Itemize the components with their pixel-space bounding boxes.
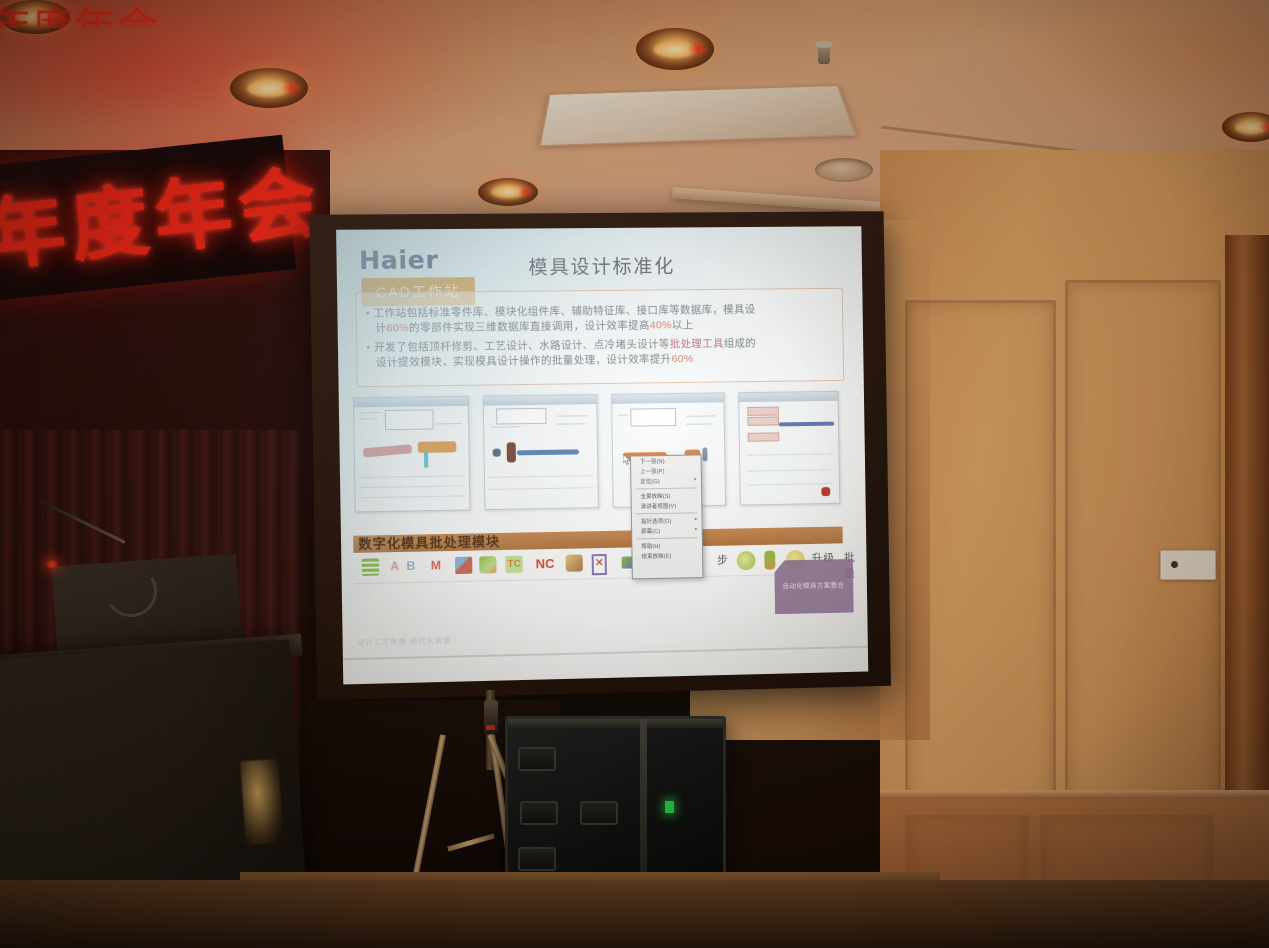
letter-b-icon[interactable]: B — [406, 558, 415, 575]
crescent-icon[interactable] — [737, 551, 756, 570]
bullet-2-pct: 60% — [671, 353, 693, 365]
tc-icon[interactable]: TC — [505, 556, 523, 573]
sprinkler-icon — [818, 44, 830, 64]
wall-panel — [905, 300, 1056, 806]
thumbnail-interface-library — [738, 391, 840, 506]
projection-screen: Haier 模具设计标准化 CAD工作站 • 工作站包括标准零件库、模块化组件库… — [336, 226, 868, 684]
menu-item-screen[interactable]: 屏幕(C)▸ — [632, 525, 702, 536]
bullet-1-pct1: 80% — [386, 322, 409, 334]
slide-footer: 设计工艺数据 现代化管理 — [357, 636, 452, 648]
projection-screen-frame: Haier 模具设计标准化 CAD工作站 • 工作站包括标准零件库、模块化组件库… — [309, 211, 891, 700]
menu-item-presenter-view[interactable]: 演讲者视图(V) — [632, 500, 702, 511]
microphone-led — [46, 560, 58, 569]
podium-emblem — [240, 759, 284, 845]
x-box-icon[interactable]: ✕ — [592, 554, 608, 575]
bullet-1-pct2: 40% — [650, 319, 672, 331]
led-sign-top-sliver: 年度年会 — [0, 0, 290, 28]
bullet-item: • 开发了包括顶杆修剪、工艺设计、水路设计、点冷堵头设计等批处理工具组成的 设计… — [366, 335, 834, 370]
green-bars-icon[interactable] — [362, 558, 380, 576]
dots-icon[interactable] — [455, 557, 472, 574]
menu-item-end-show[interactable]: 结束放映(E) — [632, 550, 702, 561]
thumbnail-standard-parts-library — [483, 394, 599, 510]
wall-panel — [1065, 280, 1221, 806]
bullet-1-l2b: 的零部件实现三维数据库直接调用，设计效率提高 — [409, 320, 650, 335]
downlight-icon — [478, 178, 538, 206]
wainscot-rail — [880, 790, 1269, 799]
wall-outlet-plate — [1160, 550, 1216, 580]
hex-badge: 自动化模具方案整合 — [774, 559, 853, 614]
conference-hall-photo: 年度年会 年度年会 Haier 模具设计标准化 CAD工作站 • 工作站包括标准… — [0, 0, 1269, 948]
bullet-1-l1b: 模块化组件库、 — [495, 305, 572, 318]
bullet-2-l2a: 设计提效模块，实现模具设计操作的批量处理，设计效率提升 — [367, 353, 672, 369]
bullet-2-l1c: 水路设计、 — [539, 339, 594, 352]
module-band-label: 数字化模具批处理模块 — [358, 533, 500, 553]
bullet-2-l1a: 开发了包括顶杆修剪、 — [374, 340, 485, 353]
bullet-1-l1d: 接口库等数据库，模具设 — [637, 303, 756, 316]
bullet-1-l2c: 以上 — [672, 319, 694, 331]
ceiling-speaker — [815, 158, 873, 182]
letter-a-icon[interactable]: A — [390, 558, 399, 575]
downlight-icon — [636, 28, 714, 70]
bullet-item: • 工作站包括标准零件库、模块化组件库、辅助特征库、接口库等数据库，模具设 计8… — [366, 302, 834, 337]
nc-icon[interactable]: NC — [536, 555, 555, 572]
bullet-1-l1c: 辅助特征库、 — [571, 305, 636, 318]
step-label[interactable]: 步 — [717, 552, 729, 568]
bullet-1-l2a: 计 — [366, 322, 386, 334]
tripod-head — [484, 700, 498, 734]
green-pin-icon[interactable] — [764, 551, 775, 570]
slide-footer-rule — [343, 646, 868, 660]
rack-power-led — [665, 801, 674, 813]
bullet-list: • 工作站包括标准零件库、模块化组件库、辅助特征库、接口库等数据库，模具设 计8… — [366, 302, 834, 375]
green-arrow-icon[interactable] — [479, 556, 496, 573]
menu-item-goto[interactable]: 定位(G)▸ — [631, 475, 701, 486]
slideshow-context-menu[interactable]: 下一张(N) 上一张(P) 定位(G)▸ 全屏放映(S) 演讲者视图(V) 指针… — [630, 454, 703, 579]
bullet-2-l1f: 组成的 — [724, 337, 756, 349]
thumbnail-row — [353, 391, 854, 531]
letter-m-icon[interactable]: M — [431, 557, 441, 574]
bullet-2-l1d: 点冷堵头设计等 — [594, 338, 670, 351]
bullet-2-l1b: 工艺设计、 — [484, 340, 539, 353]
hex-badge-text: 自动化模具方案整合 — [782, 579, 844, 590]
floor — [0, 880, 1269, 948]
downlight-icon — [230, 68, 308, 108]
ceiling-access-panel — [539, 85, 858, 147]
bullet-1-l1a: 工作站包括标准零件库、 — [373, 306, 495, 319]
mouse-cursor-icon — [623, 454, 632, 466]
wrench-icon[interactable] — [566, 554, 583, 571]
bullet-2-l1e: 批处理工具 — [670, 338, 724, 351]
thumbnail-modular-library — [353, 396, 470, 513]
